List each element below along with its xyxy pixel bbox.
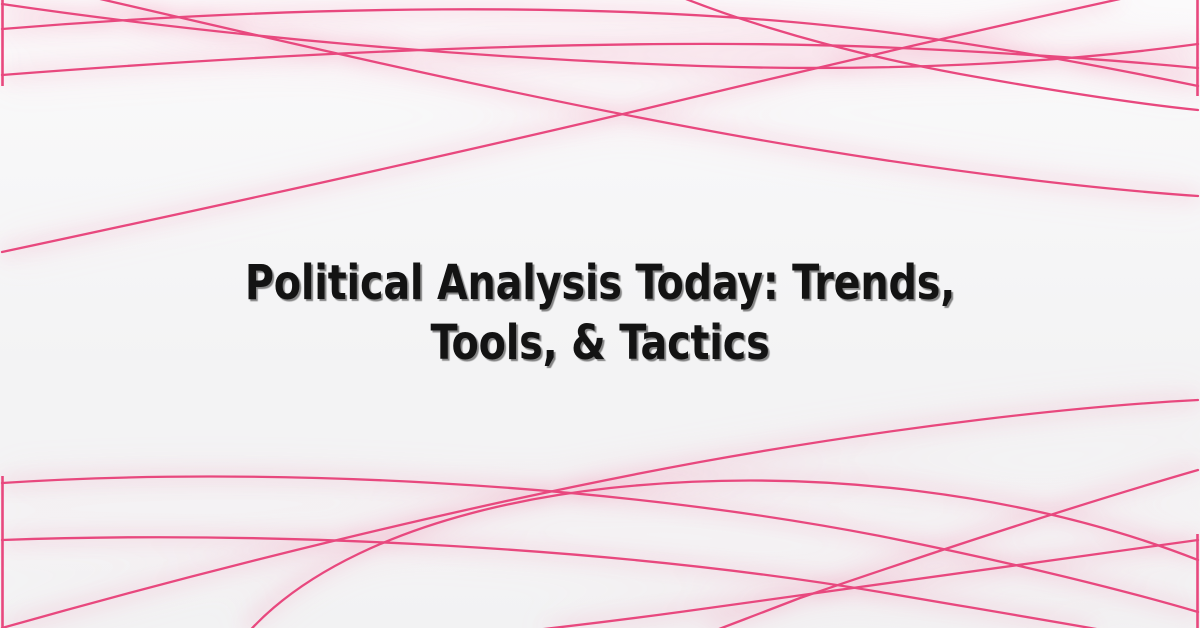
banner-card: Political Analysis Today: Trends, Tools,…: [0, 0, 1200, 628]
title-container: Political Analysis Today: Trends, Tools,…: [0, 0, 1200, 628]
page-title: Political Analysis Today: Trends, Tools,…: [204, 254, 995, 373]
